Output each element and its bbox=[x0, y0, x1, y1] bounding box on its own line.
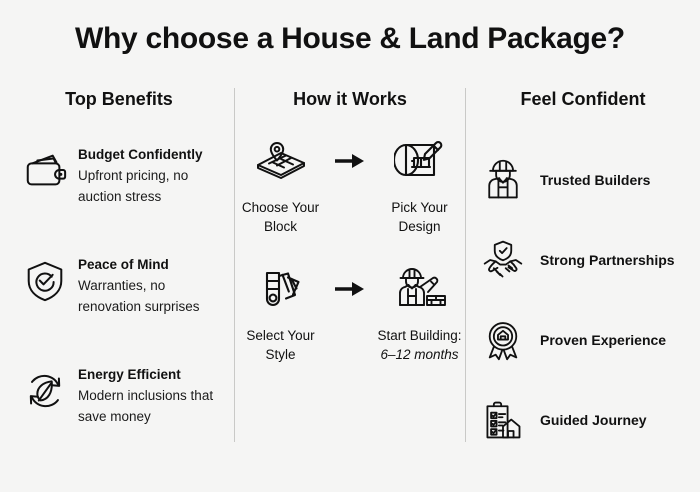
step-start-building: Start Building: 6–12 months bbox=[375, 264, 464, 364]
step-arrow-2 bbox=[325, 264, 375, 314]
benefit-text-energy-efficient: Energy Efficient Modern inclusions that … bbox=[78, 364, 228, 427]
benefit-item-peace-of-mind: Peace of Mind Warranties, no renovation … bbox=[6, 254, 232, 364]
confidence-list: Trusted Builders bbox=[468, 140, 698, 460]
builder-worker-icon bbox=[480, 157, 526, 203]
step-label: Pick Your Design bbox=[375, 198, 464, 236]
handshake-shield-icon bbox=[480, 237, 526, 283]
column-heading-top-benefits: Top Benefits bbox=[6, 88, 232, 114]
benefit-item-budget: Budget Confidently Upfront pricing, no a… bbox=[6, 144, 232, 254]
confidence-label: Guided Journey bbox=[540, 411, 647, 429]
step-row-1: Choose Your Block bbox=[236, 136, 464, 264]
benefit-heading: Peace of Mind bbox=[78, 255, 228, 274]
benefit-heading: Energy Efficient bbox=[78, 365, 228, 384]
column-how-it-works: How it Works bbox=[236, 88, 464, 392]
benefit-description: Modern inclusions that save money bbox=[78, 385, 228, 427]
benefit-text-budget: Budget Confidently Upfront pricing, no a… bbox=[78, 144, 228, 207]
blueprint-pencil-icon bbox=[375, 136, 464, 186]
column-heading-how-it-works: How it Works bbox=[236, 88, 464, 114]
step-choose-block: Choose Your Block bbox=[236, 136, 325, 236]
leaf-recycle-icon bbox=[22, 368, 68, 414]
confidence-item-guided-journey: Guided Journey bbox=[468, 380, 698, 460]
step-row-2: Select Your Style bbox=[236, 264, 464, 392]
step-label: Start Building: 6–12 months bbox=[375, 326, 464, 364]
benefit-description: Upfront pricing, no auction stress bbox=[78, 165, 228, 207]
benefit-list: Budget Confidently Upfront pricing, no a… bbox=[6, 144, 232, 474]
column-top-benefits: Top Benefits Budget Confidently Upfront … bbox=[6, 88, 232, 474]
step-label: Select Your Style bbox=[236, 326, 325, 364]
wallet-icon bbox=[22, 148, 68, 194]
confidence-item-trusted-builders: Trusted Builders bbox=[468, 140, 698, 220]
step-arrow-1 bbox=[325, 136, 375, 186]
step-label: Choose Your Block bbox=[236, 198, 325, 236]
column-divider-right bbox=[465, 88, 466, 442]
infographic-root: Why choose a House & Land Package? Top B… bbox=[0, 0, 700, 492]
column-divider-left bbox=[234, 88, 235, 442]
confidence-item-strong-partnerships: Strong Partnerships bbox=[468, 220, 698, 300]
confidence-item-proven-experience: Proven Experience bbox=[468, 300, 698, 380]
shield-check-icon bbox=[22, 258, 68, 304]
land-plot-pin-icon bbox=[236, 136, 325, 186]
step-label-text: Start Building: bbox=[377, 328, 461, 343]
column-heading-feel-confident: Feel Confident bbox=[468, 88, 698, 114]
step-select-style: Select Your Style bbox=[236, 264, 325, 364]
color-swatch-fan-icon bbox=[236, 264, 325, 314]
step-pick-design: Pick Your Design bbox=[375, 136, 464, 236]
page-title: Why choose a House & Land Package? bbox=[0, 22, 700, 56]
confidence-label: Trusted Builders bbox=[540, 171, 650, 189]
clipboard-house-icon bbox=[480, 397, 526, 443]
benefit-description: Warranties, no renovation surprises bbox=[78, 275, 228, 317]
benefit-text-peace-of-mind: Peace of Mind Warranties, no renovation … bbox=[78, 254, 228, 317]
step-grid: Choose Your Block bbox=[236, 136, 464, 392]
confidence-label: Strong Partnerships bbox=[540, 251, 675, 269]
step-duration: 6–12 months bbox=[380, 347, 458, 362]
builder-bricks-icon bbox=[375, 264, 464, 314]
award-house-icon bbox=[480, 317, 526, 363]
benefit-item-energy-efficient: Energy Efficient Modern inclusions that … bbox=[6, 364, 232, 474]
benefit-heading: Budget Confidently bbox=[78, 145, 228, 164]
column-feel-confident: Feel Confident bbox=[468, 88, 698, 460]
confidence-label: Proven Experience bbox=[540, 331, 666, 349]
